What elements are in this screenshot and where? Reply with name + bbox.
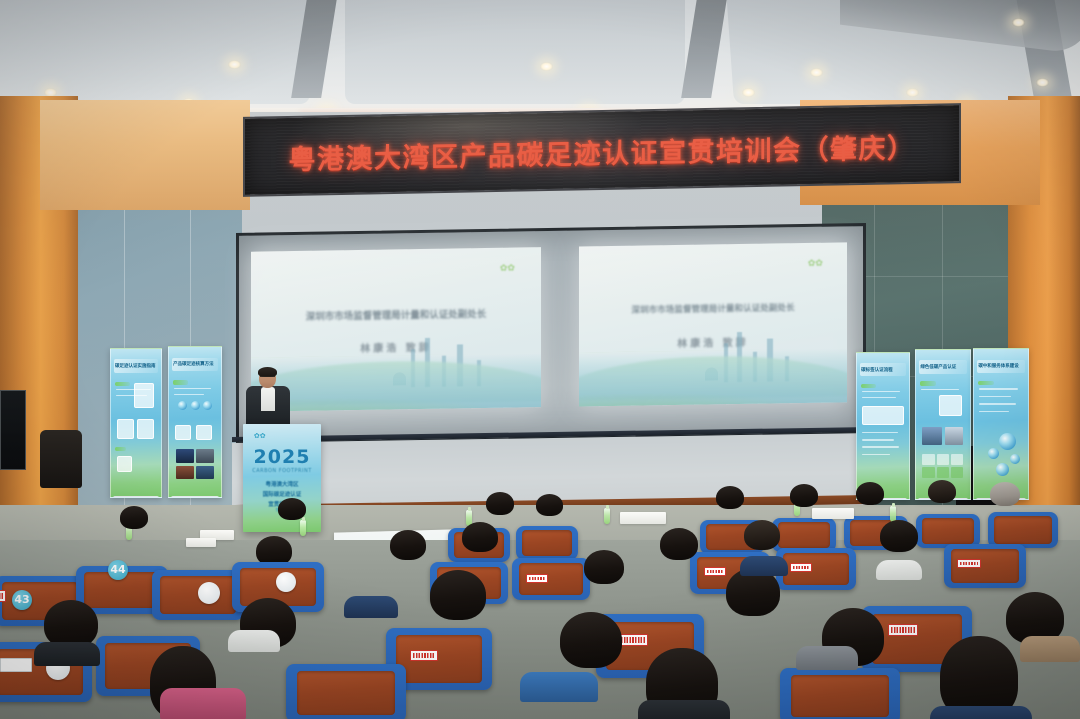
audience-member xyxy=(744,520,780,550)
table-row xyxy=(780,668,900,719)
rollup-banner-left-2: 产品碳足迹核算方法 xyxy=(168,346,222,498)
seat-label xyxy=(0,658,32,672)
table-row xyxy=(152,570,244,620)
projected-slide-right: ✿✿ 深圳市市场监督管理局计量和认证处副处长 林康浩 致辞 xyxy=(579,242,847,406)
downlight-icon xyxy=(1012,18,1025,27)
seat-label xyxy=(618,634,648,646)
audience-member xyxy=(880,520,918,552)
downlight-icon xyxy=(742,88,755,97)
audience-member-torso xyxy=(740,556,788,576)
downlight-icon xyxy=(906,88,919,97)
audience-member-torso xyxy=(160,688,246,719)
seat-label xyxy=(526,574,548,583)
audience-member xyxy=(486,492,514,515)
rollup-title: 产品碳足迹核算方法 xyxy=(173,361,217,367)
rollup-globe-graphic xyxy=(988,448,999,459)
presenter xyxy=(246,368,290,430)
rollup-banner-right-3: 碳中和服务体系建设 xyxy=(973,348,1029,500)
seat-label xyxy=(888,624,918,636)
rollup-photo xyxy=(945,427,963,445)
audience-member xyxy=(660,528,698,560)
audience-member-torso xyxy=(34,642,100,666)
table-row xyxy=(776,548,856,590)
seat-sticker xyxy=(198,582,220,604)
led-banner: 粤港澳大湾区产品碳足迹认证宣贯培训会（肇庆） xyxy=(243,103,961,197)
document-sheet xyxy=(186,538,216,547)
left-lintel xyxy=(40,100,250,210)
table-row xyxy=(772,518,836,552)
slide-logo-icon: ✿✿ xyxy=(808,259,823,269)
audience-member xyxy=(390,530,426,560)
water-bottle xyxy=(300,520,306,536)
seat-label xyxy=(410,650,438,661)
audience-member xyxy=(560,612,622,668)
document-sheet xyxy=(620,512,666,524)
seat-label xyxy=(957,559,981,568)
document-sheet xyxy=(812,508,854,519)
rollup-banner-right-1: 碳标签认证流程 xyxy=(856,352,910,500)
rollup-title: 绿色低碳产品认证 xyxy=(920,364,965,370)
rollup-title: 碳中和服务体系建设 xyxy=(978,363,1023,369)
audience-member xyxy=(536,494,563,516)
audience-member xyxy=(44,600,98,648)
downlight-icon xyxy=(810,68,823,77)
rollup-banner-right-2: 绿色低碳产品认证 xyxy=(915,349,971,500)
audience-member xyxy=(120,506,148,529)
audience-member xyxy=(716,486,744,509)
downlight-icon xyxy=(228,60,241,69)
side-chair-left xyxy=(40,430,82,488)
audience-member-torso xyxy=(876,560,922,580)
rollup-photo xyxy=(196,466,214,480)
seat-label xyxy=(790,563,812,572)
audience-member xyxy=(430,570,486,620)
audience-member-torso xyxy=(1020,636,1080,662)
side-monitor xyxy=(0,390,26,470)
audience-member xyxy=(584,550,624,584)
table-row xyxy=(516,526,578,560)
rollup-globe-graphic xyxy=(996,463,1009,476)
audience-member xyxy=(790,484,818,507)
table-row xyxy=(944,544,1026,588)
podium-line-1: 粤港澳大湾区 xyxy=(243,480,321,488)
audience-member-torso xyxy=(228,630,280,652)
seat-sticker xyxy=(276,572,296,592)
seat-number-43: 43 xyxy=(12,590,32,610)
projection-screen-area: ✿✿ 深圳市市场监督管理局计量和认证处副处长 林康浩 致辞 ✿✿ 深圳市市场监督… xyxy=(236,223,866,445)
rollup-photo xyxy=(196,449,214,463)
podium-line-2: 国际碳足迹认证 xyxy=(243,490,321,498)
audience-member xyxy=(928,480,956,503)
rollup-banner-left-1: 碳足迹认证实施指南 xyxy=(110,348,162,498)
rollup-photo xyxy=(922,427,941,445)
table-row xyxy=(286,664,406,719)
seat-label xyxy=(704,567,726,576)
table-row xyxy=(512,558,590,600)
rollup-title: 碳标签认证流程 xyxy=(861,367,905,373)
audience-member xyxy=(278,498,306,520)
slide-logo-icon: ✿✿ xyxy=(500,264,515,274)
podium-subtitle: CARBON FOOTPRINT xyxy=(243,468,321,474)
audience-member xyxy=(990,482,1020,506)
table-row xyxy=(988,512,1058,548)
seat-number-44: 44 xyxy=(108,560,128,580)
downlight-icon xyxy=(540,62,553,71)
audience-member xyxy=(856,482,884,505)
rollup-globe-graphic xyxy=(1010,454,1020,464)
audience-member-torso xyxy=(930,706,1032,719)
downlight-icon xyxy=(1036,78,1049,87)
podium-year: 2025 xyxy=(243,446,321,468)
glasses-icon xyxy=(260,376,275,379)
projected-slide-left: ✿✿ 深圳市市场监督管理局计量和认证处副处长 林康浩 致辞 xyxy=(251,247,541,412)
table-row xyxy=(916,514,980,548)
conference-hall-photo: 粤港澳大湾区产品碳足迹认证宣贯培训会（肇庆） ✿✿ 深圳市市场监督管理局计量和认… xyxy=(0,0,1080,719)
audience-member-torso xyxy=(638,700,730,719)
seat-label xyxy=(0,590,6,602)
audience-member xyxy=(462,522,498,552)
podium-logo-icon: ✿✿ xyxy=(254,432,266,440)
audience-member-torso xyxy=(520,672,598,702)
rollup-photo xyxy=(176,466,194,480)
rollup-title: 碳足迹认证实施指南 xyxy=(115,363,157,369)
led-banner-text: 粤港澳大湾区产品碳足迹认证宣贯培训会（肇庆） xyxy=(289,125,916,176)
audience-member-torso xyxy=(344,596,398,618)
rollup-photo xyxy=(176,449,194,463)
audience-member-torso xyxy=(796,646,858,670)
water-bottle xyxy=(604,508,610,524)
rollup-globe-graphic xyxy=(999,433,1016,450)
